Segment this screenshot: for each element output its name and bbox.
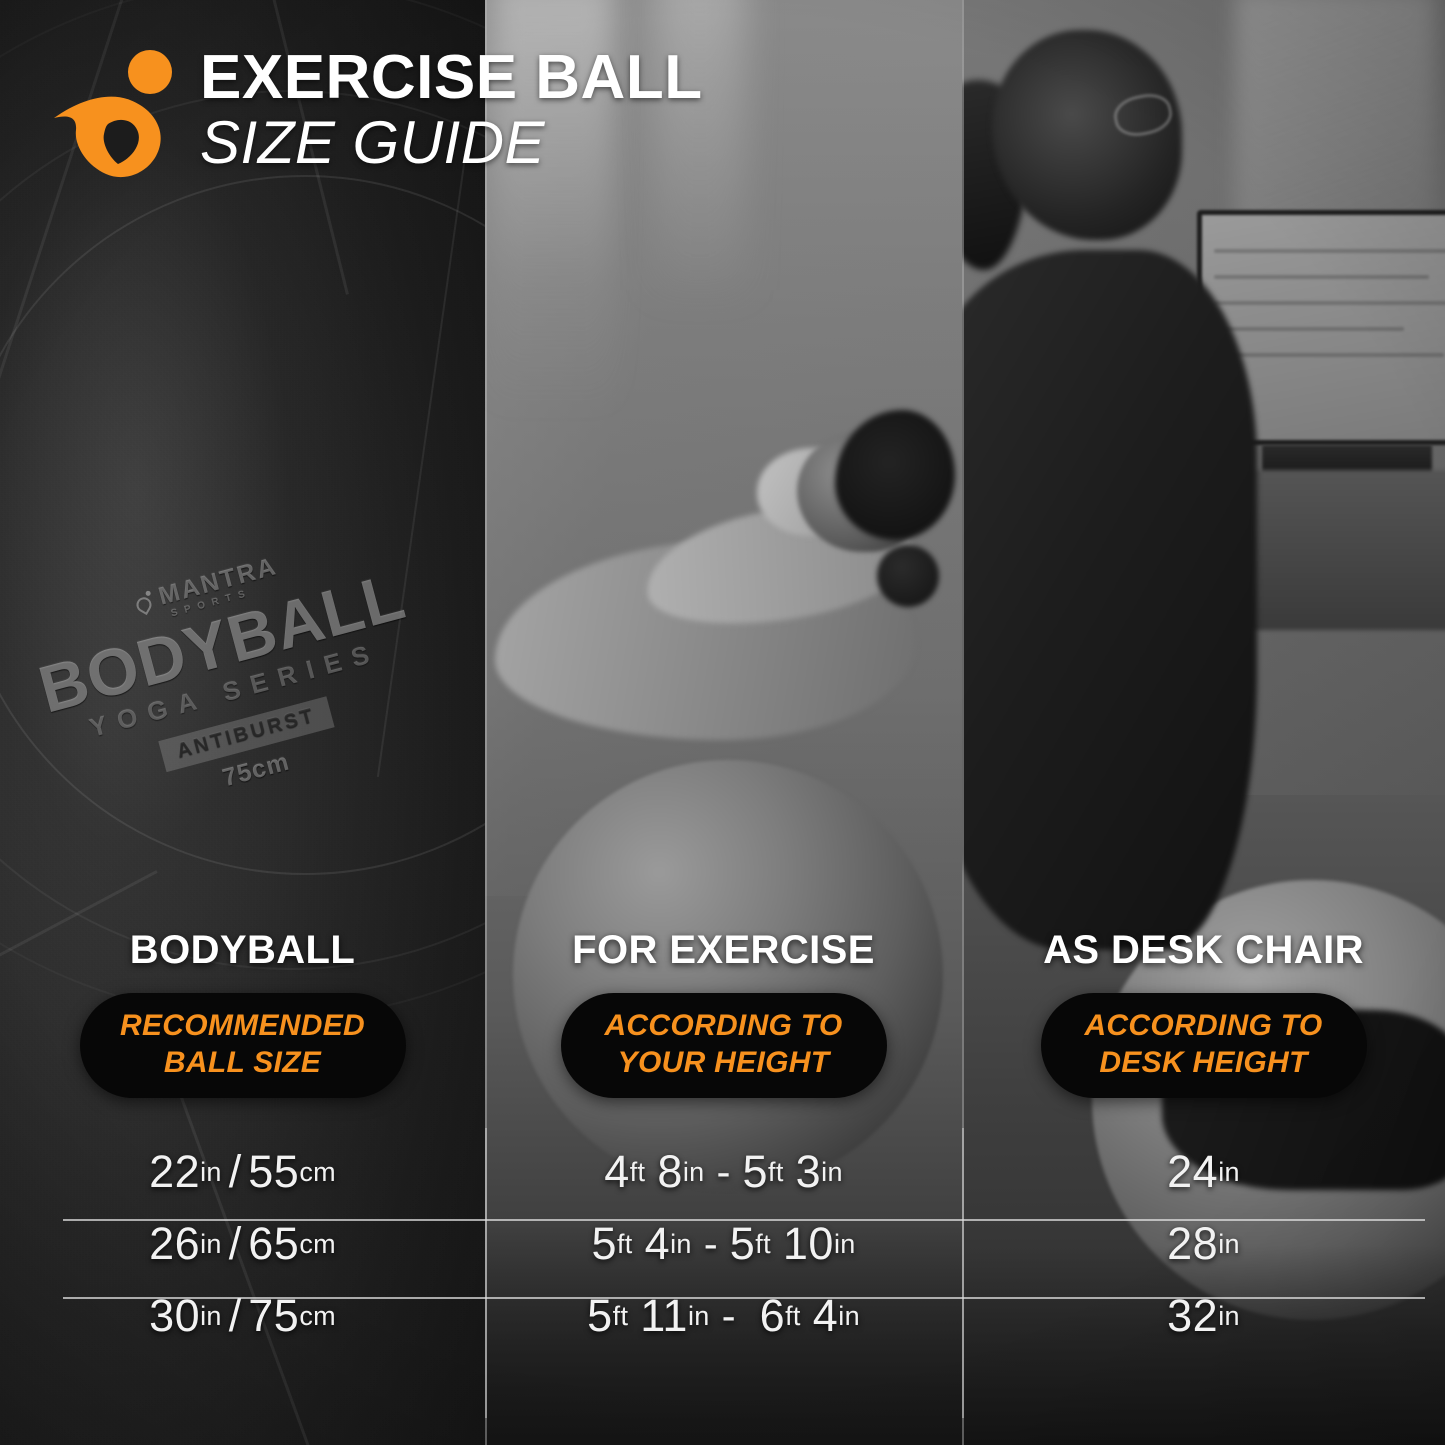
table-row: 30in/75cm [0,1280,485,1352]
cell-ball-cm-unit: cm [299,1301,336,1332]
column-pill-exercise: ACCORDING TO YOUR HEIGHT [561,993,887,1098]
column-rows-exercise: 4ft8in-5ft3in 5ft4in-5ft10in 5ft11in-6ft… [485,1130,962,1352]
cell-ball-inch-unit: in [200,1229,222,1260]
page-title: EXERCISE BALL [200,46,703,109]
cell-range-dash: - [692,1220,730,1268]
table-column-exercise: FOR EXERCISE ACCORDING TO YOUR HEIGHT 4f… [485,920,962,1445]
column-pill-bodyball: RECOMMENDED BALL SIZE [80,993,406,1098]
pill-line-2: YOUR HEIGHT [587,1045,861,1082]
table-row: 4ft8in-5ft3in [485,1136,962,1208]
cell-separator: / [222,1146,249,1198]
row-divider-2 [63,1297,1425,1299]
column-title-exercise: FOR EXERCISE [572,928,875,973]
cell-from-in-unit: in [670,1229,692,1260]
cell-separator: / [222,1218,249,1270]
table-row: 5ft11in-6ft4in [485,1280,962,1352]
cell-range-dash: - [710,1292,748,1340]
cell-ball-cm-unit: cm [299,1229,336,1260]
table-column-bodyball: BODYBALL RECOMMENDED BALL SIZE 22in/55cm… [0,920,485,1445]
column-rows-desk-chair: 24in 28in 32in [962,1130,1445,1352]
cell-to-ft-unit: ft [755,1229,771,1260]
column-title-bodyball: BODYBALL [130,928,355,973]
person-at-desk [962,250,1257,950]
table-row: 32in [962,1280,1445,1352]
row-divider-1 [63,1219,1425,1221]
column-divider-2 [962,1128,964,1418]
cell-from-ft-unit: ft [613,1301,629,1332]
cell-ball-cm: 65 [248,1218,299,1270]
mantra-drop-logo-icon [52,46,182,181]
cell-desk-height-unit: in [1218,1229,1240,1260]
cell-from-in-unit: in [688,1301,710,1332]
cell-from-in-unit: in [683,1157,705,1188]
pill-line-2: DESK HEIGHT [1067,1045,1341,1082]
cell-to-in-unit: in [838,1301,860,1332]
cell-from-in: 8 [657,1146,683,1198]
pill-line-1: ACCORDING TO [587,1008,861,1045]
table-column-desk-chair: AS DESK CHAIR ACCORDING TO DESK HEIGHT 2… [962,920,1445,1445]
cell-from-ft: 4 [604,1146,630,1198]
size-table: BODYBALL RECOMMENDED BALL SIZE 22in/55cm… [0,920,1445,1445]
column-title-desk-chair: AS DESK CHAIR [1043,928,1364,973]
cell-desk-height: 28 [1167,1218,1218,1270]
table-row: 22in/55cm [0,1136,485,1208]
page-subtitle: SIZE GUIDE [200,111,703,175]
title-block: EXERCISE BALL SIZE GUIDE [200,46,703,175]
pill-line-2: BALL SIZE [106,1045,380,1082]
column-divider-1 [485,1128,487,1418]
mantra-drop-icon [134,590,156,614]
cell-from-ft-unit: ft [617,1229,633,1260]
cell-ball-inch-unit: in [200,1157,222,1188]
cell-to-ft: 5 [730,1218,756,1270]
header: EXERCISE BALL SIZE GUIDE [0,0,703,181]
pill-line-1: RECOMMENDED [106,1008,380,1045]
cell-ball-cm-unit: cm [299,1157,336,1188]
cell-from-ft-unit: ft [630,1157,646,1188]
pill-line-1: ACCORDING TO [1067,1008,1341,1045]
cell-desk-height-unit: in [1218,1301,1240,1332]
cell-ball-inch: 26 [149,1218,200,1270]
cell-to-in: 3 [796,1146,822,1198]
cell-to-ft-unit: ft [785,1301,801,1332]
cell-ball-inch: 22 [149,1146,200,1198]
column-rows-bodyball: 22in/55cm 26in/65cm 30in/75cm [0,1130,485,1352]
person-exercising [585,390,955,810]
cell-desk-height: 24 [1167,1146,1218,1198]
cell-to-ft-unit: ft [768,1157,784,1188]
cell-range-dash: - [705,1148,743,1196]
cell-to-in-unit: in [834,1229,856,1260]
cell-to-in: 10 [783,1218,834,1270]
cell-to-in-unit: in [821,1157,843,1188]
cell-desk-height-unit: in [1218,1157,1240,1188]
column-pill-desk-chair: ACCORDING TO DESK HEIGHT [1041,993,1367,1098]
cell-ball-inch-unit: in [200,1301,222,1332]
cell-from-ft: 5 [591,1218,617,1270]
cell-ball-cm: 55 [248,1146,299,1198]
cell-from-in: 4 [645,1218,671,1270]
table-row: 24in [962,1136,1445,1208]
exercise-ball-size-guide-infographic: MANTRA SPORTS BODYBALL YOGA SERIES ANTIB… [0,0,1445,1445]
cell-to-ft: 5 [743,1146,769,1198]
